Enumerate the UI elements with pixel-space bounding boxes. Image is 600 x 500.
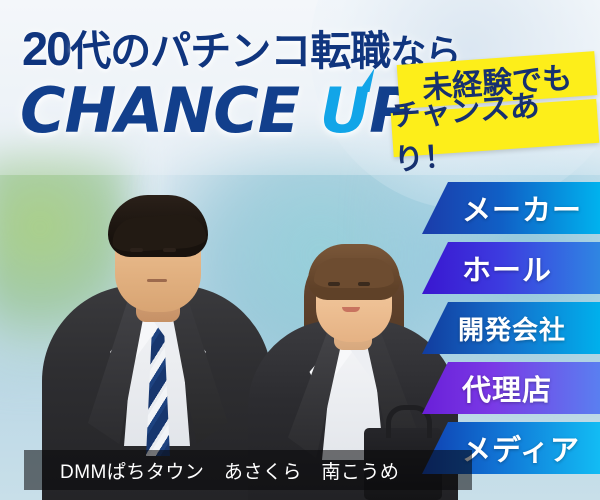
badge-chance-available: チャンスあり！ xyxy=(391,99,600,157)
category-label-agency: 代理店 xyxy=(462,367,552,409)
category-button-maker[interactable]: メーカー xyxy=(422,182,600,234)
man-eye-right xyxy=(163,248,176,252)
woman-mouth xyxy=(342,307,360,312)
headline-text: 20代のパチンコ転職なら xyxy=(22,17,460,77)
woman-hair-bangs xyxy=(314,258,394,288)
advertisement-banner[interactable]: 20代のパチンコ転職なら CHANCE UP 未経験でも チャンスあり！ メーカ… xyxy=(0,0,600,500)
badge-chance-available-label: チャンスあり！ xyxy=(389,77,600,179)
headline-number: 20 xyxy=(22,22,70,75)
category-label-maker: メーカー xyxy=(462,187,582,229)
chance-up-logo: CHANCE UP xyxy=(20,74,414,147)
logo-word-chance: CHANCE xyxy=(20,74,320,147)
logo-letter-u: U xyxy=(320,74,369,147)
photo-man xyxy=(42,155,272,500)
category-button-development-company[interactable]: 開発会社 xyxy=(422,302,600,354)
credit-text: DMMぱちタウン あさくら 南こうめ xyxy=(60,457,399,484)
woman-eye-right xyxy=(358,282,370,286)
category-label-media: メディア xyxy=(462,427,580,469)
category-label-hall: ホール xyxy=(462,247,552,289)
man-eye-left xyxy=(130,248,143,252)
woman-eye-left xyxy=(328,282,340,286)
man-mouth xyxy=(147,279,167,282)
credit-bar: DMMぱちタウン あさくら 南こうめ xyxy=(24,450,472,490)
category-button-agency[interactable]: 代理店 xyxy=(422,362,600,414)
headline-body: 代のパチンコ転職 xyxy=(70,28,390,74)
category-label-development-company: 開発会社 xyxy=(458,310,566,347)
category-button-hall[interactable]: ホール xyxy=(422,242,600,294)
